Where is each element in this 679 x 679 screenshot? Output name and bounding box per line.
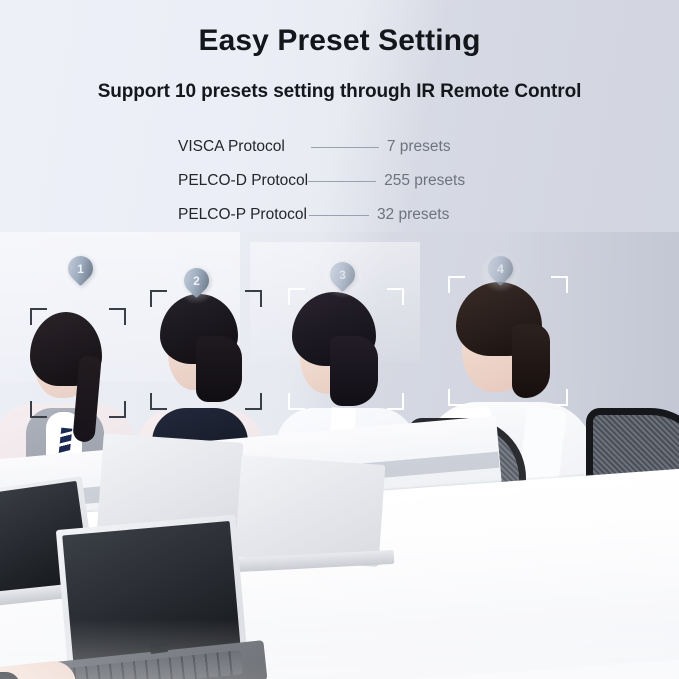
preset-marker-4[interactable]: 4 bbox=[488, 256, 513, 290]
preset-marker-3[interactable]: 3 bbox=[330, 262, 355, 296]
protocol-list: VISCA Protocol 7 presets PELCO-D Protoco… bbox=[178, 130, 508, 232]
connector-line bbox=[311, 147, 379, 148]
protocol-name: PELCO-D Protocol bbox=[178, 172, 308, 190]
protocol-value: 255 presets bbox=[384, 172, 465, 190]
preset-setting-banner: Easy Preset Setting Support 10 presets s… bbox=[0, 0, 679, 679]
preset-marker-2[interactable]: 2 bbox=[184, 268, 209, 302]
face-tracking-bracket-1 bbox=[30, 308, 126, 418]
protocol-name: VISCA Protocol bbox=[178, 138, 285, 156]
page-subtitle: Support 10 presets setting through IR Re… bbox=[0, 81, 679, 103]
face-tracking-bracket-4 bbox=[448, 276, 568, 406]
marker-label: 2 bbox=[184, 268, 209, 293]
face-tracking-bracket-2 bbox=[150, 290, 262, 410]
protocol-value: 32 presets bbox=[377, 206, 449, 224]
protocol-row: VISCA Protocol 7 presets bbox=[178, 130, 508, 164]
protocol-row: PELCO-D Protocol 255 presets bbox=[178, 164, 508, 198]
protocol-name: PELCO-P Protocol bbox=[178, 206, 307, 224]
marker-label: 4 bbox=[488, 256, 513, 281]
connector-line bbox=[309, 215, 369, 216]
connector-line bbox=[308, 181, 376, 182]
conference-room-photo: 1 2 3 4 bbox=[0, 232, 679, 679]
foreground-blur bbox=[0, 619, 679, 679]
face-tracking-bracket-3 bbox=[288, 288, 404, 410]
protocol-value: 7 presets bbox=[387, 138, 451, 156]
page-title: Easy Preset Setting bbox=[0, 24, 679, 58]
marker-label: 1 bbox=[68, 256, 93, 281]
marker-label: 3 bbox=[330, 262, 355, 287]
preset-marker-1[interactable]: 1 bbox=[68, 256, 93, 290]
protocol-row: PELCO-P Protocol 32 presets bbox=[178, 198, 508, 232]
